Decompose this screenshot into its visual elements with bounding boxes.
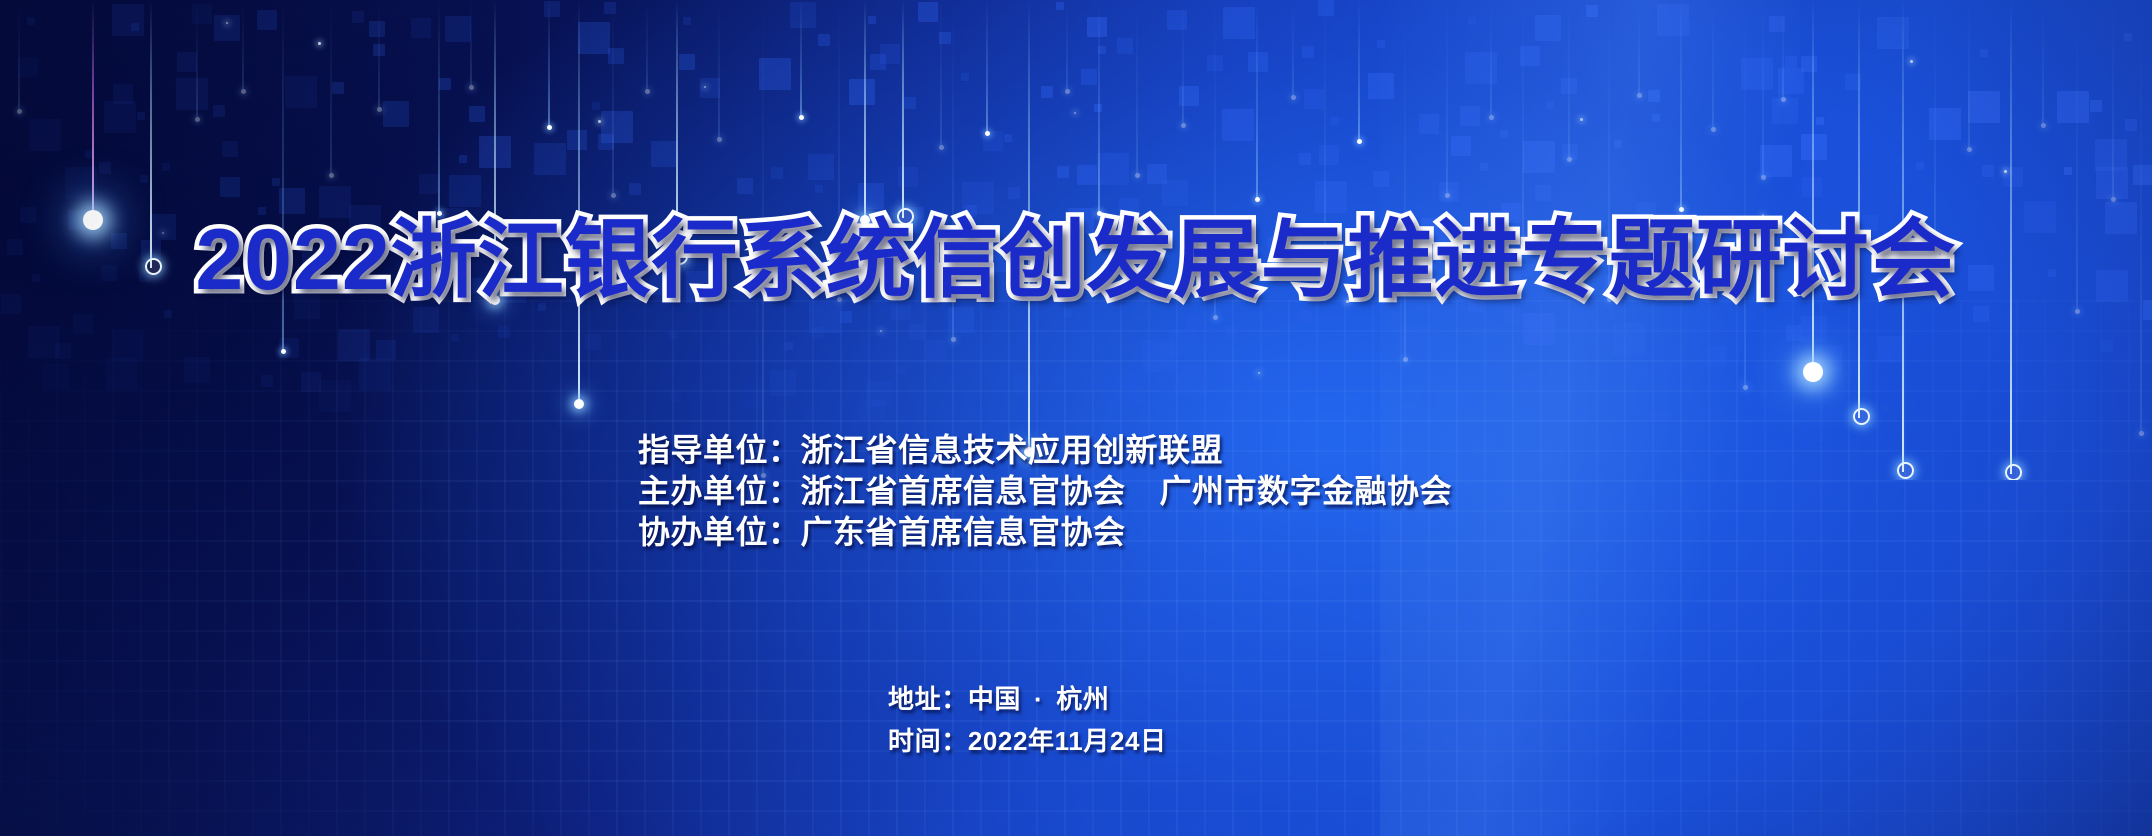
streak-line	[548, 0, 550, 128]
streak-glow-dot	[939, 145, 944, 150]
streak-glow-dot	[645, 89, 650, 94]
sparkle-dot	[1074, 112, 1076, 114]
light-streak	[578, 0, 580, 404]
light-streak	[800, 0, 802, 118]
streak-line	[1858, 0, 1860, 418]
streak-line	[902, 0, 904, 218]
light-streak	[1968, 0, 1970, 150]
event-date-row: 时间：2022年11月24日	[888, 720, 1167, 762]
light-streak	[242, 0, 244, 92]
streak-glow-dot	[281, 349, 286, 354]
organization-row: 协办单位：广东省首席信息官协会	[638, 512, 1452, 553]
location-city: 杭州	[1056, 684, 1109, 714]
streak-glow-dot	[574, 399, 584, 409]
streak-line	[1522, 0, 1524, 240]
streak-line	[1934, 0, 1936, 236]
streak-glow-dot	[799, 115, 804, 120]
streak-line	[612, 0, 614, 196]
light-streak	[1782, 0, 1784, 100]
streak-line	[242, 0, 244, 92]
light-streak	[646, 0, 648, 92]
streak-glow-dot	[1291, 95, 1296, 100]
streak-glow-dot	[2139, 431, 2144, 436]
streak-line	[196, 0, 198, 120]
event-meta-block: 地址：中国·杭州 时间：2022年11月24日	[888, 678, 1167, 762]
streak-glow-dot	[17, 109, 22, 114]
light-streak	[1744, 0, 1746, 388]
light-streak	[718, 0, 720, 140]
streak-line	[2042, 0, 2044, 126]
streak-line	[1256, 0, 1258, 200]
organization-row: 指导单位：浙江省信息技术应用创新联盟	[638, 430, 1452, 471]
sparkle-dot	[226, 22, 228, 24]
organizations-block: 指导单位：浙江省信息技术应用创新联盟 主办单位：浙江省首席信息官协会广州市数字金…	[638, 430, 1452, 553]
streak-glow-dot	[1567, 157, 1572, 162]
streak-line	[1292, 0, 1294, 98]
streak-line	[92, 0, 94, 220]
date-label: 时间：	[888, 726, 968, 756]
streak-line	[1490, 0, 1492, 118]
light-streak	[1934, 0, 1936, 236]
streak-glow-dot	[1213, 315, 1218, 320]
streak-line	[1136, 0, 1138, 176]
light-streak	[470, 0, 472, 88]
location-country: 中国	[968, 684, 1021, 714]
streak-glow-dot	[1357, 139, 1362, 144]
banner-title: 2022浙江银行系统信创发展与推进专题研讨会	[0, 212, 2152, 308]
streak-glow-dot	[1445, 193, 1450, 198]
streak-glow-dot	[2111, 197, 2116, 202]
light-streak	[1712, 0, 1714, 130]
streak-line	[864, 0, 866, 220]
streak-line	[1744, 0, 1746, 388]
light-streak	[196, 0, 198, 120]
streak-glow-dot	[1065, 89, 1070, 94]
streak-glow-dot	[1637, 93, 1642, 98]
light-streak	[1358, 0, 1360, 142]
streak-glow-dot	[611, 193, 616, 198]
streak-line	[1098, 0, 1100, 214]
streak-glow-dot	[1967, 147, 1972, 152]
sparkle-dot	[880, 330, 882, 332]
streak-line	[1066, 0, 1068, 92]
streak-line	[378, 0, 380, 110]
location-separator: ·	[1034, 684, 1043, 714]
light-streak	[864, 0, 866, 220]
light-streak	[902, 0, 904, 218]
streak-line	[1712, 0, 1714, 130]
streak-glow-dot	[1897, 462, 1914, 479]
sparkle-dot	[318, 42, 321, 45]
organization-value: 浙江省首席信息官协会	[801, 473, 1126, 509]
streak-line	[330, 0, 332, 176]
streak-line	[800, 0, 802, 118]
streak-glow-dot	[377, 107, 382, 112]
streak-line	[1638, 0, 1640, 96]
light-streak	[1182, 0, 1184, 126]
streak-glow-dot	[717, 137, 722, 142]
sparkle-dot	[1258, 372, 1260, 374]
location-label: 地址：	[888, 684, 968, 714]
streak-glow-dot	[2005, 464, 2022, 480]
light-streak	[986, 0, 988, 134]
organization-value-secondary: 广州市数字金融协会	[1160, 473, 1453, 509]
streak-line	[470, 0, 472, 88]
light-streak	[1522, 0, 1524, 240]
light-streak	[1136, 0, 1138, 176]
streak-line	[986, 0, 988, 134]
light-streak	[1762, 0, 1764, 178]
streak-line	[1358, 0, 1360, 142]
light-streak	[1490, 0, 1492, 118]
light-streak	[18, 0, 20, 112]
light-streak	[1812, 0, 1814, 372]
light-streak	[940, 0, 942, 148]
streak-glow-dot	[2075, 309, 2080, 314]
streak-line	[1968, 0, 1970, 150]
streak-glow-dot	[1181, 123, 1186, 128]
sparkle-dot	[1910, 60, 1913, 63]
light-streak	[1098, 0, 1100, 214]
sparkle-dot	[598, 120, 601, 123]
streak-glow-dot	[241, 89, 246, 94]
streak-glow-dot	[1711, 127, 1716, 132]
streak-glow-dot	[985, 131, 990, 136]
streak-line	[718, 0, 720, 140]
light-streak	[548, 0, 550, 128]
streak-glow-dot	[1135, 173, 1140, 178]
organization-value: 浙江省信息技术应用创新联盟	[801, 432, 1224, 468]
streak-line	[578, 0, 580, 404]
streak-line	[1568, 0, 1570, 160]
event-banner: 2022浙江银行系统信创发展与推进专题研讨会 指导单位：浙江省信息技术应用创新联…	[0, 0, 2152, 836]
streak-glow-dot	[195, 117, 200, 122]
streak-line	[1680, 0, 1682, 210]
streak-glow-dot	[1255, 197, 1260, 202]
light-streak	[378, 0, 380, 110]
event-location-row: 地址：中国·杭州	[888, 678, 1167, 720]
streak-glow-dot	[329, 173, 334, 178]
streak-glow-dot	[1743, 385, 1748, 390]
streak-line	[2112, 0, 2114, 200]
streak-glow-dot	[2041, 123, 2046, 128]
organization-label: 主办单位：	[638, 473, 801, 509]
streak-glow-dot	[1853, 408, 1870, 425]
light-streak	[1292, 0, 1294, 98]
organization-label: 协办单位：	[638, 514, 801, 550]
streak-line	[940, 0, 942, 148]
light-streak	[1858, 0, 1860, 418]
streak-glow-dot	[1761, 175, 1766, 180]
light-streak	[1568, 0, 1570, 160]
light-streak	[1638, 0, 1640, 96]
streak-line	[18, 0, 20, 112]
light-streak	[1446, 0, 1448, 196]
streak-glow-dot	[469, 85, 474, 90]
light-streak	[612, 0, 614, 196]
streak-glow-dot	[1803, 362, 1823, 382]
streak-line	[646, 0, 648, 92]
streak-line	[438, 0, 440, 214]
sparkle-dot	[1580, 118, 1583, 121]
organization-label: 指导单位：	[638, 432, 801, 468]
streak-line	[1812, 0, 1814, 372]
streak-line	[1762, 0, 1764, 178]
light-streak	[92, 0, 94, 220]
light-streak	[2042, 0, 2044, 126]
streak-glow-dot	[1403, 357, 1408, 362]
sparkle-dot	[704, 86, 706, 88]
organization-row: 主办单位：浙江省首席信息官协会广州市数字金融协会	[638, 471, 1452, 512]
streak-glow-dot	[547, 125, 552, 130]
sparkle-dot	[2004, 170, 2007, 173]
light-streak	[1066, 0, 1068, 92]
light-streak	[330, 0, 332, 176]
streak-line	[1446, 0, 1448, 196]
light-streak	[1680, 0, 1682, 210]
streak-line	[1182, 0, 1184, 126]
light-streak	[1256, 0, 1258, 200]
date-value: 2022年11月24日	[968, 726, 1167, 756]
light-streak	[2112, 0, 2114, 200]
organization-value: 广东省首席信息官协会	[801, 514, 1126, 550]
streak-glow-dot	[951, 337, 956, 342]
streak-line	[1782, 0, 1784, 100]
streak-glow-dot	[1489, 115, 1494, 120]
streak-glow-dot	[1781, 97, 1786, 102]
light-streak	[438, 0, 440, 214]
